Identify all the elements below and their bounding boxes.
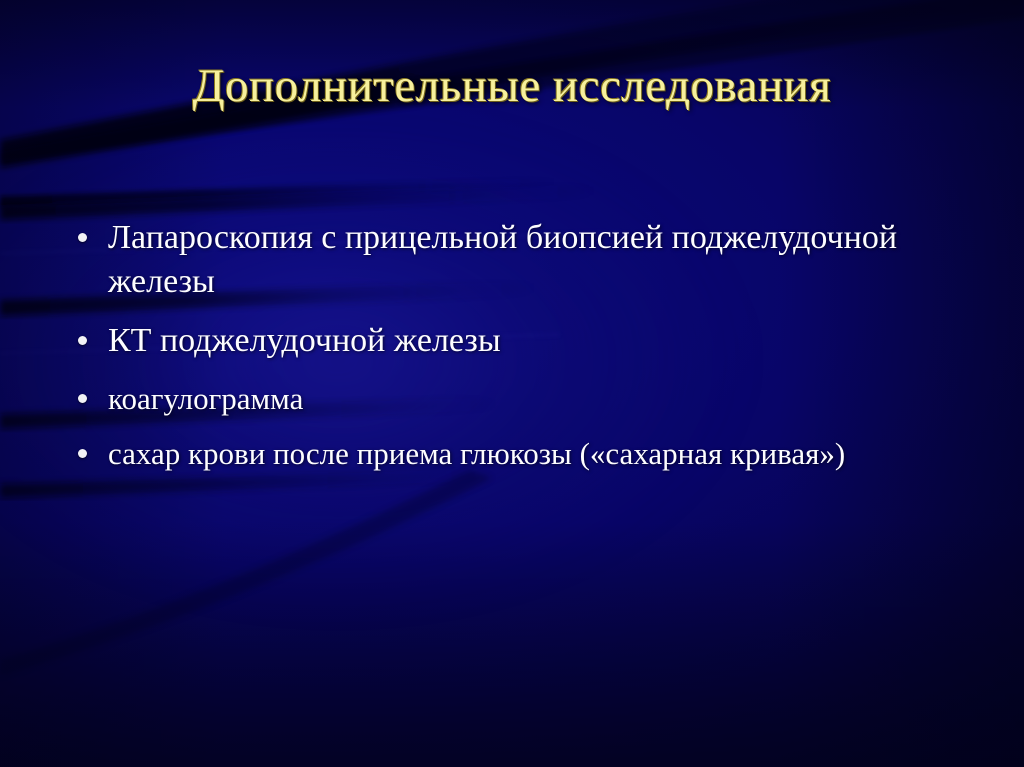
slide-title: Дополнительные исследования	[0, 62, 1024, 111]
list-item-label: КТ поджелудочной железы	[108, 319, 898, 363]
list-item: коагулограмма	[78, 379, 958, 419]
list-item-label: Лапароскопия с прицельной биопсией подже…	[108, 216, 898, 303]
list-item: Лапароскопия с прицельной биопсией подже…	[78, 216, 958, 303]
slide-body-bullet-list: Лапароскопия с прицельной биопсией подже…	[78, 216, 958, 490]
bullet-point-icon	[78, 233, 108, 242]
bullet-point-icon	[78, 394, 108, 403]
list-item: сахар крови после приема глюкозы («сахар…	[78, 434, 958, 474]
list-item-label: коагулограмма	[108, 379, 898, 419]
bullet-point-icon	[78, 449, 108, 458]
list-item: КТ поджелудочной железы	[78, 319, 958, 363]
bullet-point-icon	[78, 336, 108, 345]
presentation-slide: Дополнительные исследования Лапароскопия…	[0, 0, 1024, 767]
list-item-label: сахар крови после приема глюкозы («сахар…	[108, 434, 898, 474]
